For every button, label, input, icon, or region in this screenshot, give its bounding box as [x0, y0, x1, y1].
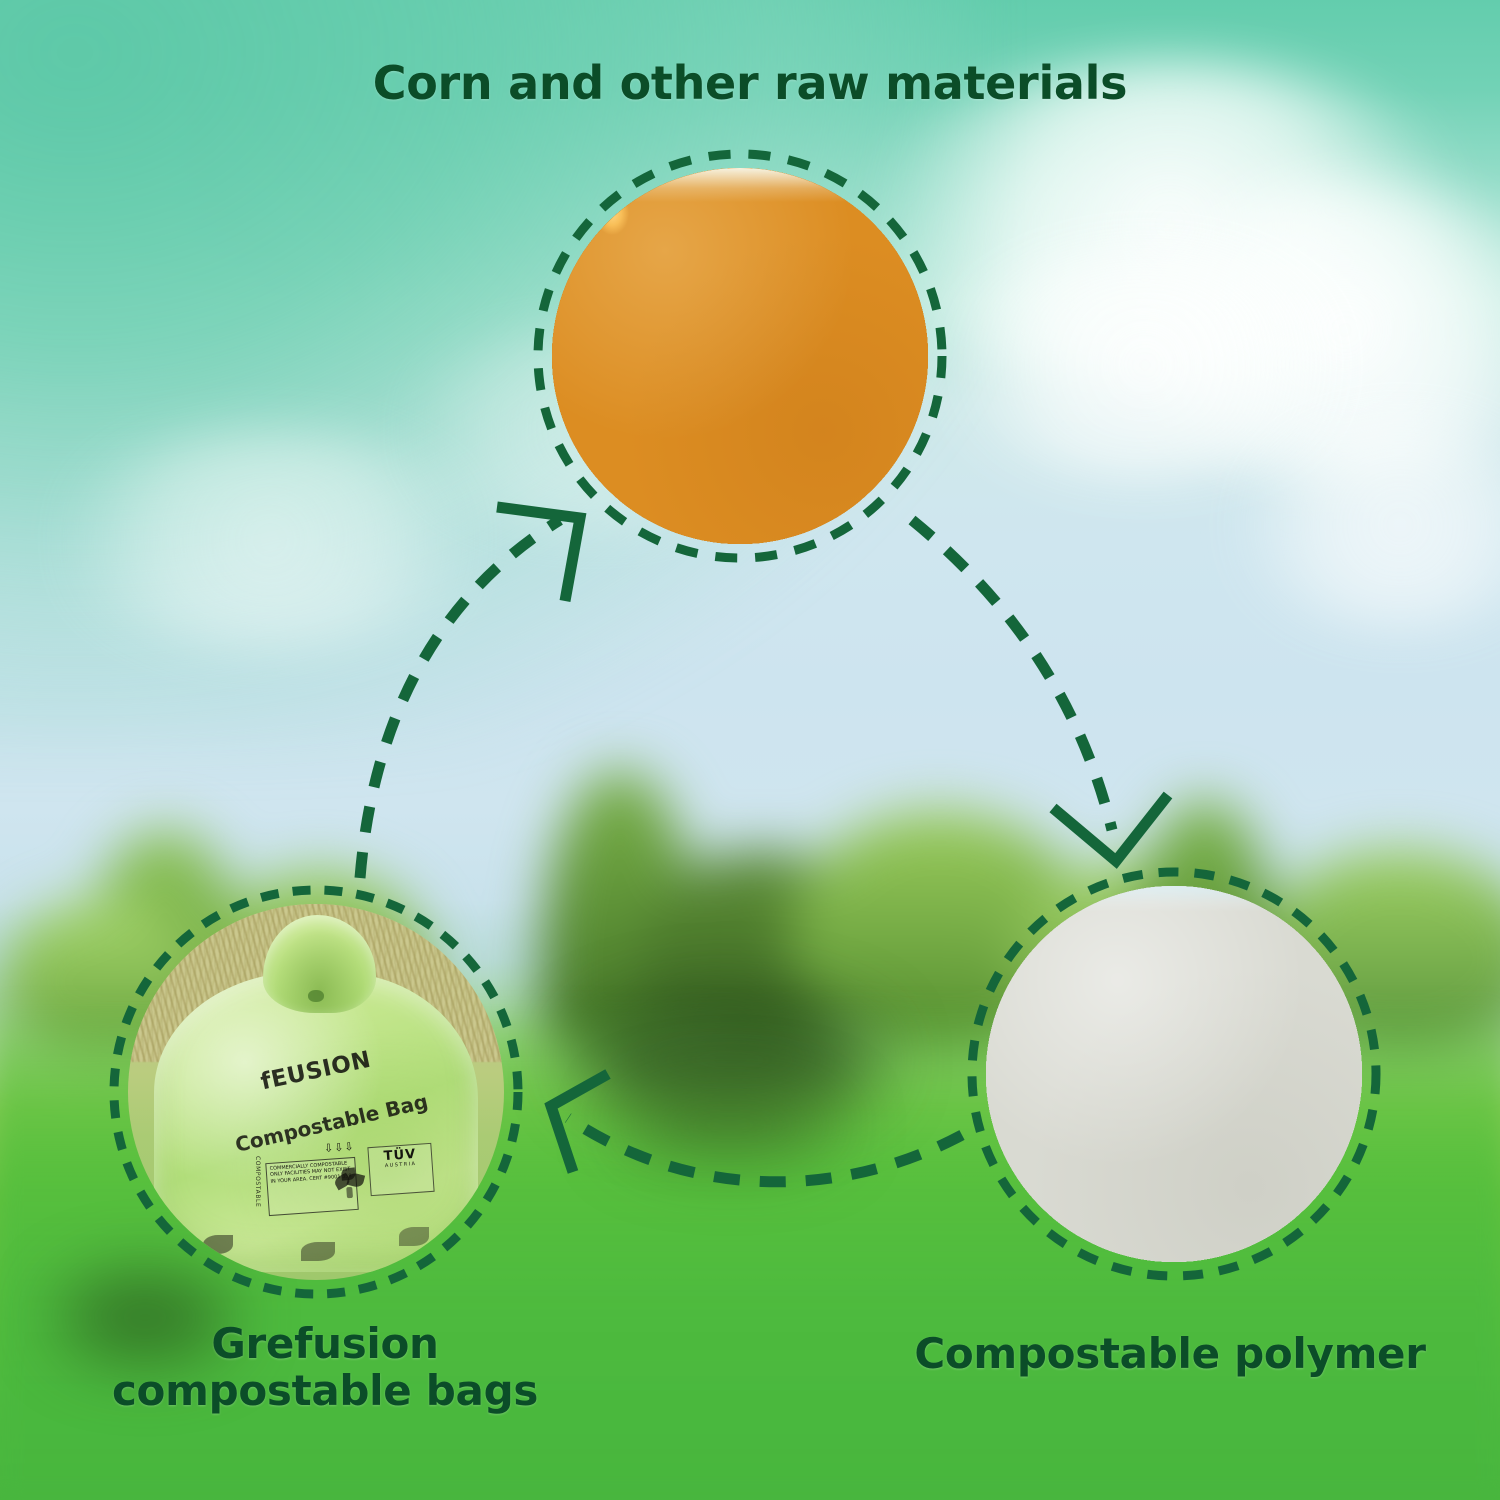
bag-leaf-print [399, 1227, 429, 1246]
label-grefusion-compostable-bags: Grefusion compostable bags [60, 1320, 590, 1414]
background-shadow [620, 1090, 840, 1160]
corn-kernels-image [552, 168, 928, 544]
bag-compostable-vertical-text: COMPOSTABLE [254, 1156, 261, 1207]
node-polymer[interactable] [958, 858, 1390, 1290]
infographic-canvas: fEUSION Compostable Bag COMPOSTABLE COMM… [0, 0, 1500, 1500]
bag-tie-point [308, 990, 323, 1001]
compostable-bag-image: fEUSION Compostable Bag COMPOSTABLE COMM… [128, 904, 504, 1280]
seedling-logo-icon [330, 1162, 370, 1206]
node-corn[interactable] [524, 140, 956, 572]
label-bags-line1: Grefusion [60, 1320, 590, 1367]
label-compostable-polymer: Compostable polymer [870, 1330, 1470, 1377]
title-corn-raw-materials: Corn and other raw materials [0, 58, 1500, 110]
node-bags[interactable]: fEUSION Compostable Bag COMPOSTABLE COMM… [100, 876, 532, 1308]
polymer-pellets-image [986, 886, 1362, 1262]
tuv-austria-mark: TÜV AUSTRIA [367, 1142, 434, 1195]
bag-leaf-print [203, 1235, 233, 1254]
bag-compost-arrows-icon: ⇩⇩⇩ [323, 1140, 354, 1155]
label-bags-line2: compostable bags [60, 1367, 590, 1414]
bag-leaf-print [301, 1242, 335, 1261]
